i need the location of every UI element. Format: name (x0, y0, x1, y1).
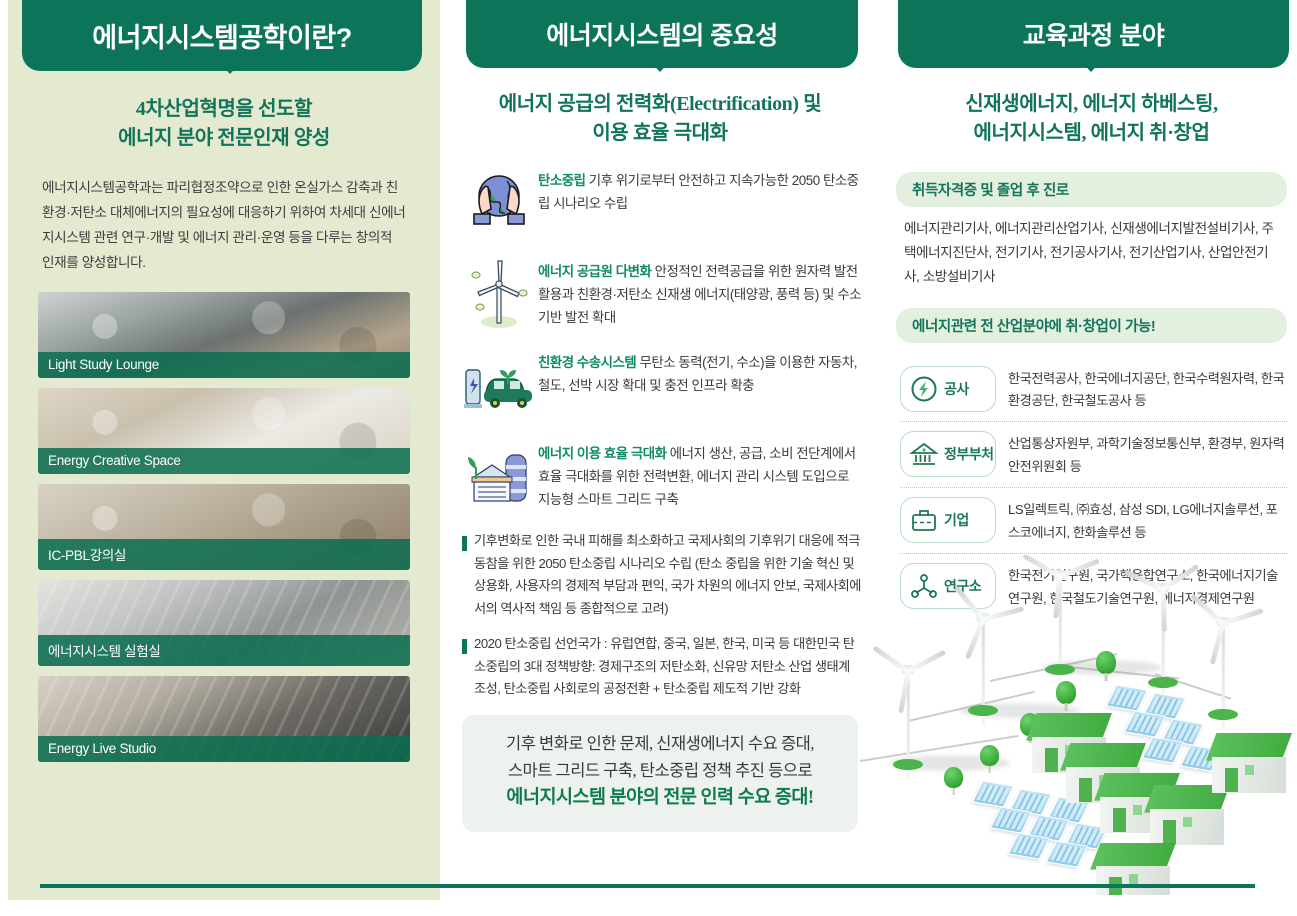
note-bar-icon (462, 639, 467, 654)
house-door (1045, 748, 1058, 772)
career-text: 한국전력공사, 한국에너지공단, 한국수력원자력, 한국환경공단, 한국철도공사… (996, 366, 1287, 413)
importance-item-body: 기후 위기로부터 안전하고 지속가능한 2050 탄소중립 시나리오 수립 (538, 173, 859, 211)
certification-section: 취득자격증 및 졸업 후 진로 에너지관리기사, 에너지관리산업기사, 신재생에… (886, 172, 1297, 290)
career-text: 산업통상자원부, 과학기술정보통신부, 환경부, 원자력안전위원회 등 (996, 431, 1287, 478)
column-importance: 에너지시스템의 중요성 에너지 공급의 전력화(Electrification)… (448, 0, 872, 916)
government-building-icon (909, 439, 939, 469)
career-row: 공사 한국전력공사, 한국에너지공단, 한국수력원자력, 한국환경공단, 한국철… (900, 357, 1287, 422)
column-one-header-wrap: 에너지시스템공학이란? (8, 0, 440, 71)
importance-item: 친환경 수송시스템 무탄소 동력(전기, 수소)을 이용한 자동차, 철도, 선… (460, 348, 864, 422)
importance-item: 에너지 공급원 다변화 안정적인 전력공급을 위한 원자력 발전 활용과 친환경… (460, 257, 864, 331)
photo-caption: 에너지시스템 실험실 (38, 635, 410, 666)
wind-turbine (975, 603, 991, 711)
turbine-base (1208, 709, 1238, 720)
note-block: 기후변화로 인한 국내 피해를 최소화하고 국제사회의 기후위기 대응에 적극 … (462, 530, 862, 621)
solar-panel (972, 780, 1014, 807)
wind-turbine (1155, 573, 1171, 683)
tree (1096, 651, 1116, 681)
certification-title: 취득자격증 및 졸업 후 진로 (896, 172, 1287, 207)
turbine-blade (1124, 569, 1164, 591)
column-one-subtitle: 4차산업혁명을 선도할 에너지 분야 전문인재 양성 (8, 95, 440, 153)
wind-turbine (1215, 607, 1231, 715)
column-two-subtitle: 에너지 공급의 전력화(Electrification) 및 이용 효율 극대화 (448, 90, 872, 148)
header-notch-icon (647, 58, 673, 72)
tree-crown (944, 767, 963, 788)
tree-trunk (952, 788, 955, 795)
importance-item-lead: 친환경 수송시스템 (538, 355, 636, 370)
callout-highlight: 에너지시스템 분야의 전문 인력 수요 증대! (480, 784, 840, 814)
importance-item-lead: 탄소중립 (538, 173, 585, 188)
turbine-base (1045, 664, 1075, 675)
importance-item-lead: 에너지 이용 효율 극대화 (538, 446, 667, 461)
importance-item-list: 탄소중립 기후 위기로부터 안전하고 지속가능한 2050 탄소중립 시나리오 … (448, 166, 872, 513)
intro-paragraph: 에너지시스템공학과는 파리협정조약으로 인한 온실가스 감축과 친환경·저탄소 … (8, 175, 440, 276)
career-text: LS일렉트릭, ㈜효성, 삼성 SDI, LG에너지솔루션, 포스코에너지, 한… (996, 497, 1287, 544)
house-door (1079, 778, 1092, 802)
tree (1056, 681, 1076, 711)
wind-turbine (1052, 560, 1068, 670)
photo-caption: Energy Creative Space (38, 448, 410, 474)
photo-card[interactable]: Light Study Lounge (38, 292, 410, 378)
tree-crown (980, 745, 999, 766)
career-badge[interactable]: 기업 (900, 497, 996, 543)
photo-card[interactable]: Energy Live Studio (38, 676, 410, 762)
importance-item: 탄소중립 기후 위기로부터 안전하고 지속가능한 2050 탄소중립 시나리오 … (460, 166, 864, 240)
career-title: 에너지관련 전 산업분야에 취·창업이 가능! (896, 308, 1287, 343)
column-about: 에너지시스템공학이란? 4차산업혁명을 선도할 에너지 분야 전문인재 양성 에… (8, 0, 440, 916)
turbine-blade (1059, 558, 1100, 578)
solar-panel (1008, 832, 1050, 859)
importance-item-lead: 에너지 공급원 다변화 (538, 264, 651, 279)
tree-crown (1096, 651, 1116, 674)
renewable-energy-village-illustration (860, 555, 1297, 895)
house-door (1225, 768, 1238, 792)
turbine-base (968, 705, 998, 716)
turbine-blade (1190, 594, 1225, 626)
solar-panel (1142, 736, 1184, 763)
career-badge[interactable]: 정부부처 (900, 431, 996, 477)
facility-photo-list: Light Study Lounge Energy Creative Space… (8, 292, 440, 762)
note-block: 2020 탄소중립 선언국가 : 유럽연합, 중국, 일본, 한국, 미국 등 … (462, 633, 862, 701)
tree-trunk (1105, 673, 1108, 681)
house-door (1163, 820, 1176, 844)
career-row: 정부부처 산업통상자원부, 과학기술정보통신부, 환경부, 원자력안전위원회 등 (900, 421, 1287, 487)
turbine-blade (954, 586, 985, 621)
house (1212, 733, 1286, 793)
brochure-page: 에너지시스템공학이란? 4차산업혁명을 선도할 에너지 분야 전문인재 양성 에… (0, 0, 1297, 916)
briefcase-icon (909, 505, 939, 535)
photo-caption: Energy Live Studio (38, 736, 410, 762)
importance-item-text: 친환경 수송시스템 무탄소 동력(전기, 수소)을 이용한 자동차, 철도, 선… (538, 348, 864, 397)
importance-item-text: 에너지 이용 효율 극대화 에너지 생산, 공급, 소비 전단계에서 효율 극대… (538, 439, 864, 511)
solar-panel (1106, 684, 1148, 711)
tree-crown (1056, 681, 1076, 704)
photo-card[interactable]: 에너지시스템 실험실 (38, 580, 410, 666)
header-notch-icon (1078, 58, 1104, 72)
solar-panel (1124, 710, 1166, 737)
career-badge-label: 정부부처 (944, 444, 994, 464)
photo-card[interactable]: Energy Creative Space (38, 388, 410, 474)
turbine-blade (1162, 564, 1200, 592)
wind-turbine (900, 655, 916, 765)
bolt-circle-icon (909, 374, 939, 404)
house-door (1113, 808, 1126, 832)
turbine-blade (1022, 555, 1061, 579)
house-window (1133, 805, 1143, 815)
turbine-blade (872, 645, 909, 673)
column-three-subtitle: 신재생에너지, 에너지 하베스팅, 에너지시스템, 에너지 취·창업 (886, 90, 1297, 148)
house-window (1129, 874, 1139, 883)
photo-caption: IC-PBL강의실 (38, 539, 410, 570)
turbine-base (893, 759, 923, 770)
photo-caption: Light Study Lounge (38, 352, 410, 378)
ev-charging-car-icon (460, 348, 538, 422)
tree (980, 745, 999, 773)
conclusion-callout: 기후 변화로 인한 문제, 신재생에너지 수요 증대, 스마트 그리드 구축, … (462, 715, 858, 832)
career-badge-label: 공사 (944, 379, 969, 399)
importance-item-text: 에너지 공급원 다변화 안정적인 전력공급을 위한 원자력 발전 활용과 친환경… (538, 257, 864, 329)
callout-line-1: 기후 변화로 인한 문제, 신재생에너지 수요 증대, (480, 731, 840, 758)
note-text: 2020 탄소중립 선언국가 : 유럽연합, 중국, 일본, 한국, 미국 등 … (474, 633, 862, 701)
bottom-divider-rule (40, 884, 1255, 888)
career-badge[interactable]: 공사 (900, 366, 996, 412)
column-two-header-wrap: 에너지시스템의 중요성 (448, 0, 872, 68)
importance-item-text: 탄소중립 기후 위기로부터 안전하고 지속가능한 2050 탄소중립 시나리오 … (538, 166, 864, 215)
house-window (1183, 817, 1193, 827)
house-window (1245, 765, 1255, 775)
importance-item: 에너지 이용 효율 극대화 에너지 생산, 공급, 소비 전단계에서 효율 극대… (460, 439, 864, 513)
solar-panel (1046, 840, 1088, 867)
turbine-blade (1161, 589, 1167, 631)
solar-panel (990, 806, 1032, 833)
turbine-blade (907, 650, 946, 674)
career-badge-label: 기업 (944, 510, 969, 530)
callout-line-2: 스마트 그리드 구축, 탄소중립 정책 추진 등으로 (480, 758, 840, 785)
wind-turbine-icon (460, 257, 538, 331)
turbine-base (1148, 677, 1178, 688)
tree-trunk (1065, 703, 1068, 711)
house-wall (1150, 809, 1224, 845)
house-wall (1212, 757, 1286, 793)
earth-in-hands-icon (460, 166, 538, 240)
certification-body: 에너지관리기사, 에너지관리산업기사, 신재생에너지발전설비기사, 주택에너지진… (886, 207, 1297, 290)
tree (944, 767, 963, 795)
header-notch-icon (217, 60, 243, 74)
eco-factory-icon (460, 439, 538, 513)
career-row: 기업 LS일렉트릭, ㈜효성, 삼성 SDI, LG에너지솔루션, 포스코에너지… (900, 487, 1287, 553)
note-bar-icon (462, 536, 467, 551)
house (1150, 785, 1224, 845)
photo-card[interactable]: IC-PBL강의실 (38, 484, 410, 570)
note-text: 기후변화로 인한 국내 피해를 최소화하고 국제사회의 기후위기 대응에 적극 … (474, 530, 862, 621)
column-three-header-wrap: 교육과정 분야 (886, 0, 1297, 68)
tree-trunk (988, 766, 991, 773)
